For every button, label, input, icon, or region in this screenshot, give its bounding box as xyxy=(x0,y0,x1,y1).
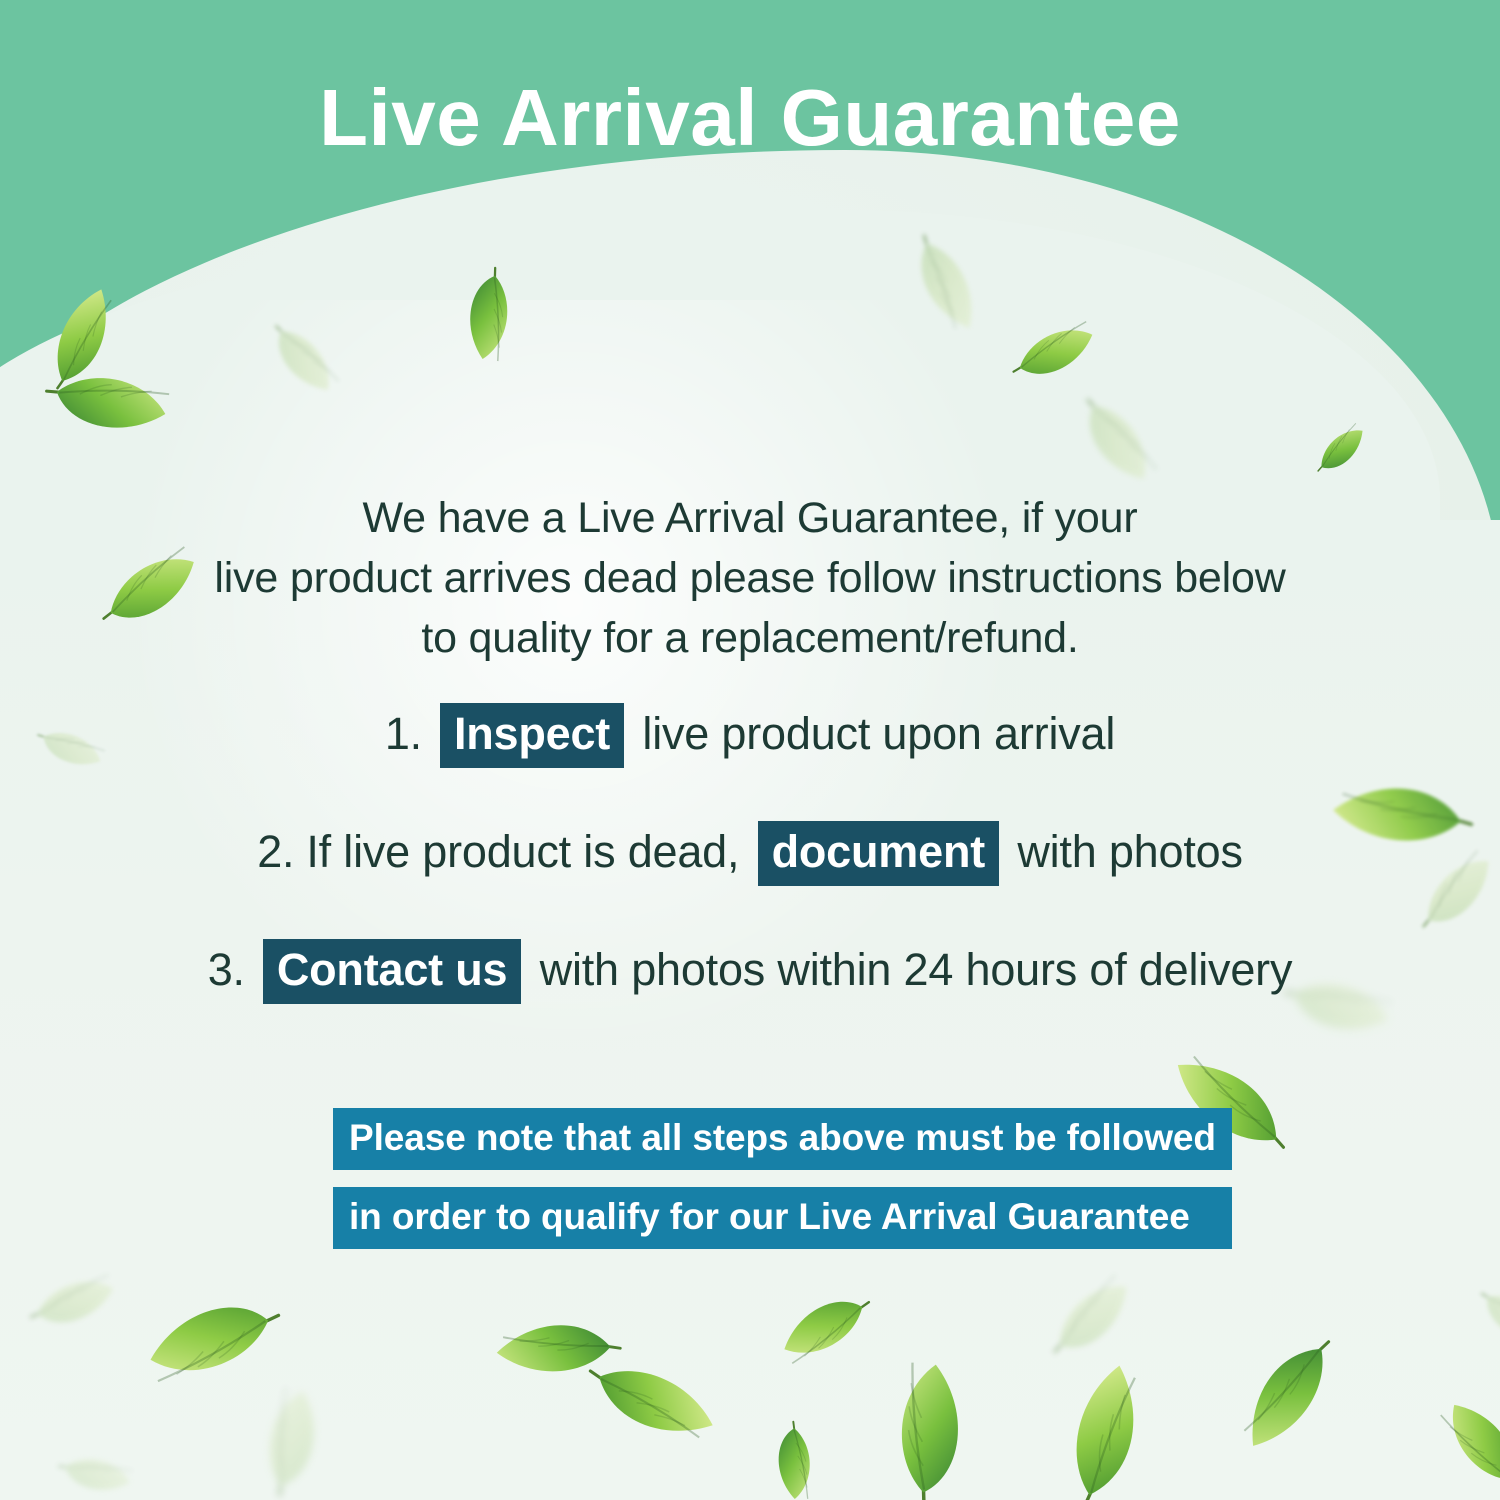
step-text-2-before: If live product is dead, xyxy=(306,826,751,877)
step-number-1: 1. xyxy=(385,708,422,759)
step-text-3: with photos within 24 hours of delivery xyxy=(527,944,1292,995)
poster-canvas: Live Arrival Guarantee We have a Live Ar… xyxy=(0,0,1500,1500)
step-highlight-document: document xyxy=(758,821,999,886)
intro-line-1: We have a Live Arrival Guarantee, if you… xyxy=(0,488,1500,548)
steps-list: 1.Inspect live product upon arrival 2.If… xyxy=(0,703,1500,1057)
step-highlight-contact-us[interactable]: Contact us xyxy=(263,939,522,1004)
step-text-2-after: with photos xyxy=(1005,826,1243,877)
step-number-3: 3. xyxy=(208,944,245,995)
step-text-1: live product upon arrival xyxy=(630,708,1115,759)
intro-paragraph: We have a Live Arrival Guarantee, if you… xyxy=(0,488,1500,668)
note-line-2: in order to qualify for our Live Arrival… xyxy=(333,1187,1232,1249)
step-item-3: 3.Contact us with photos within 24 hours… xyxy=(0,939,1500,1004)
intro-line-2: live product arrives dead please follow … xyxy=(0,548,1500,608)
page-title: Live Arrival Guarantee xyxy=(0,78,1500,158)
step-item-2: 2.If live product is dead, document with… xyxy=(0,821,1500,886)
step-item-1: 1.Inspect live product upon arrival xyxy=(0,703,1500,768)
note-line-1: Please note that all steps above must be… xyxy=(333,1108,1232,1170)
note-block: Please note that all steps above must be… xyxy=(333,1108,1232,1249)
step-number-2: 2. xyxy=(257,826,294,877)
intro-line-3: to quality for a replacement/refund. xyxy=(0,608,1500,668)
step-highlight-inspect: Inspect xyxy=(440,703,624,768)
